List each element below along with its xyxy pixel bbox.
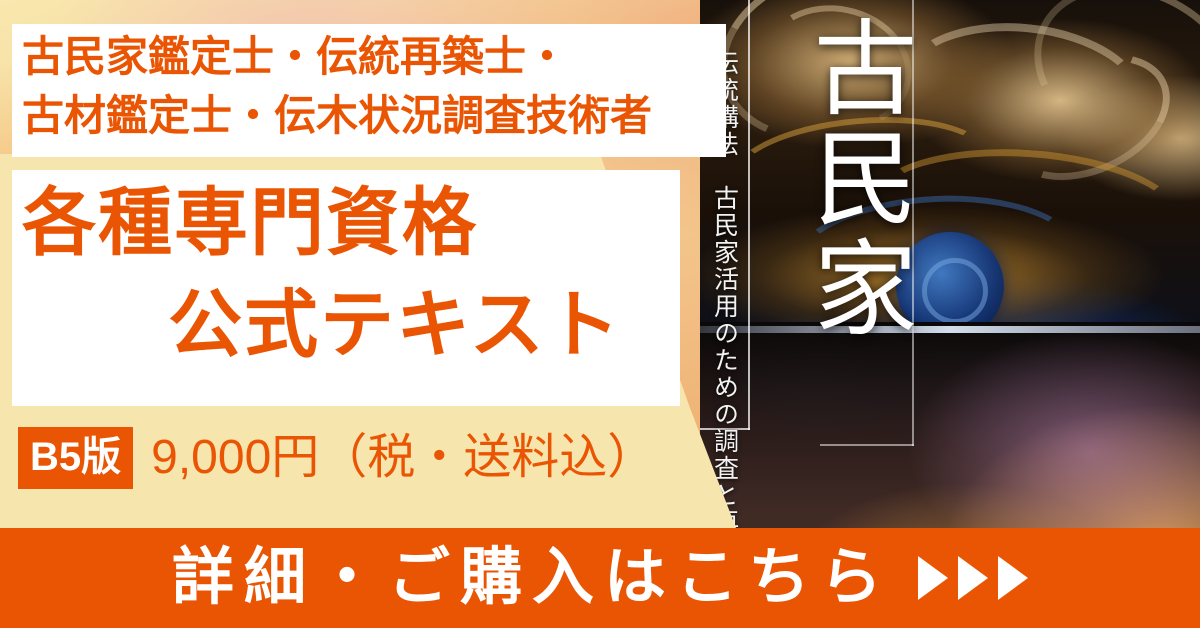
cta-label: 詳細・ご購入はこちら xyxy=(172,547,892,609)
cover-highlight-line xyxy=(700,326,1200,333)
chevron-right-icon xyxy=(918,556,948,600)
headline-text: 古民家鑑定士・伝統再築士・ 古材鑑定士・伝木状況調査技術者 xyxy=(22,28,722,146)
price-row: B5版 9,000円（税・送料込） xyxy=(18,428,655,488)
book-cover-title: 古民家 xyxy=(792,14,910,344)
cta-arrows xyxy=(918,556,1028,600)
headline-line-2: 古材鑑定士・伝木状況調査技術者 xyxy=(22,87,722,146)
cover-rule-horizontal xyxy=(820,444,914,446)
chevron-right-icon xyxy=(998,556,1028,600)
price-text: 9,000円（税・送料込） xyxy=(151,434,655,482)
promo-banner: 伝統構法 古民家活用のための調査と再生の 古民家 古民家鑑定士・伝統再築士・ 古… xyxy=(0,0,1200,628)
format-badge: B5版 xyxy=(18,427,133,489)
cover-rule-vertical xyxy=(912,0,914,446)
promo-line-1: 各種専門資格 xyxy=(22,186,478,260)
cta-bar[interactable]: 詳細・ご購入はこちら xyxy=(0,528,1200,628)
headline-line-1: 古民家鑑定士・伝統再築士・ xyxy=(22,33,568,80)
promo-line-2: 公式テキスト xyxy=(168,288,622,362)
cover-rule-vertical xyxy=(748,0,750,430)
chevron-right-icon xyxy=(958,556,988,600)
